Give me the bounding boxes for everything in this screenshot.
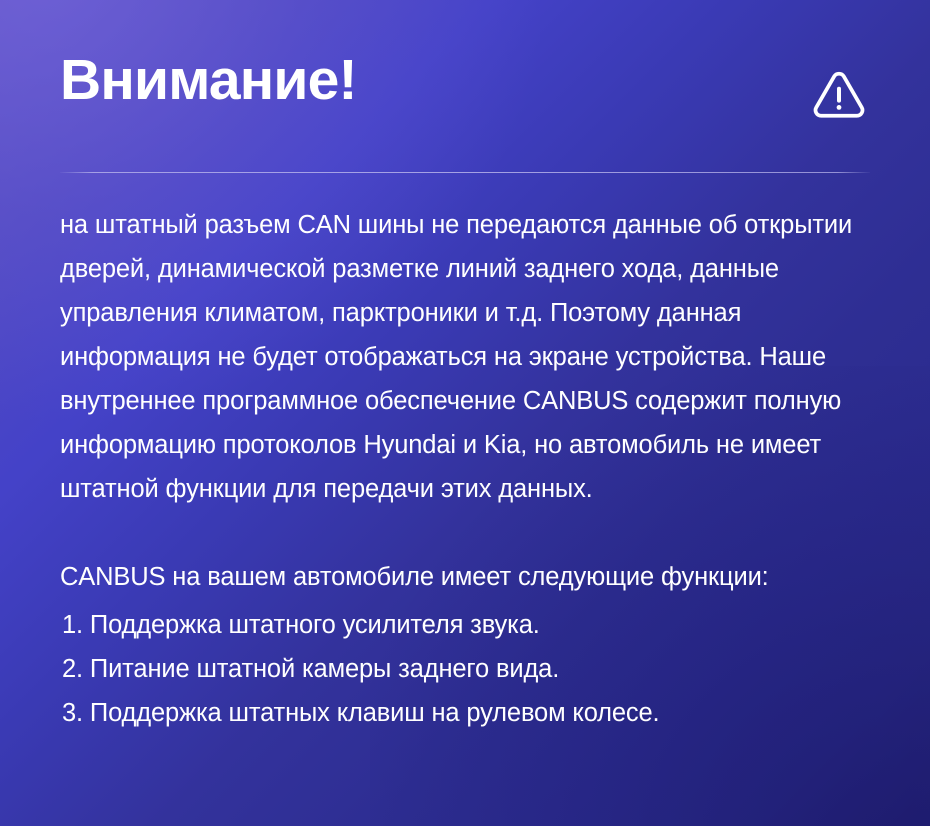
warning-poster: Внимание! на штатный разъем CAN шины не … [0,0,930,826]
header-divider [60,172,870,173]
page-title: Внимание! [60,52,357,109]
list-item: 2. Питание штатной камеры заднего вида. [60,647,870,691]
list-item: 1. Поддержка штатного усилителя звука. [60,603,870,647]
body-block: на штатный разъем CAN шины не передаются… [60,203,870,511]
body-paragraph: на штатный разъем CAN шины не передаются… [60,203,870,511]
poster-content: Внимание! на штатный разъем CAN шины не … [0,0,930,735]
poster-header: Внимание! [60,0,870,126]
features-list: 1. Поддержка штатного усилителя звука. 2… [60,603,870,735]
warning-triangle-icon [808,64,870,126]
features-lead: CANBUS на вашем автомобиле имеет следующ… [60,555,870,599]
list-item: 3. Поддержка штатных клавиш на рулевом к… [60,691,870,735]
features-block: CANBUS на вашем автомобиле имеет следующ… [60,555,870,735]
